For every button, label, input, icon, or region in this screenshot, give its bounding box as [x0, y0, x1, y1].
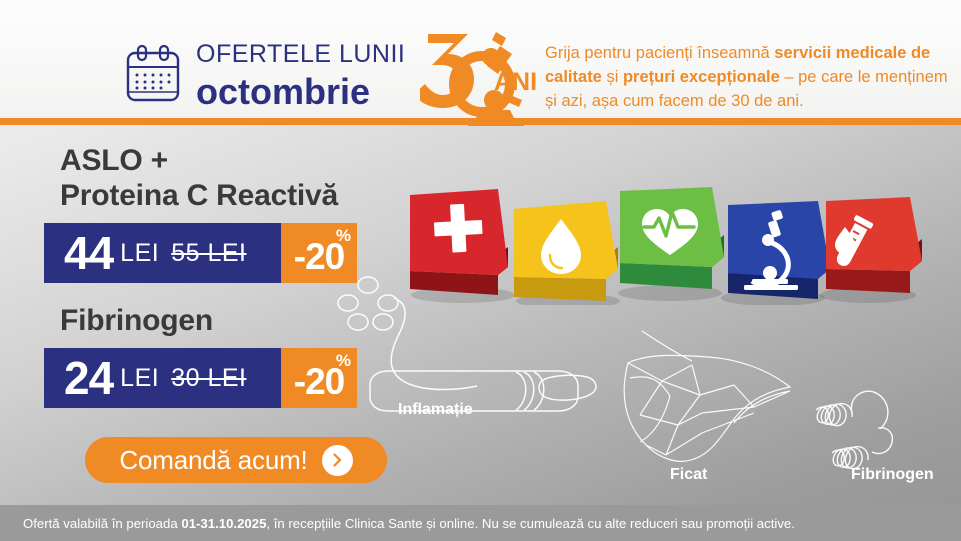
- block-cross: [410, 189, 508, 295]
- discount-badge-2: -20 %: [281, 348, 357, 408]
- tagline-part-3: prețuri excepționale: [623, 68, 780, 86]
- price-2-old: 30 LEI: [171, 364, 246, 393]
- offer-heading: OFERTELE LUNII octombrie: [196, 40, 436, 112]
- liver-wireframe-icon: [624, 331, 790, 461]
- offer-title-2-line1: Fibrinogen: [60, 303, 213, 338]
- discount-badge-1: -20 %: [281, 223, 357, 283]
- label-ficat: Ficat: [670, 466, 707, 484]
- footer-disclaimer: Ofertă valabilă în perioada 01-31.10.202…: [23, 516, 795, 531]
- offer-heading-line1: OFERTELE LUNII: [196, 40, 436, 69]
- block-testtube: [826, 197, 922, 293]
- discount-1-unit: %: [336, 227, 351, 244]
- label-fibrinogen: Fibrinogen: [851, 466, 934, 484]
- price-1-currency: LEI: [120, 239, 159, 268]
- header-tagline: Grija pentru pacienți înseamnă servicii …: [545, 42, 955, 114]
- footer-part-0: Ofertă valabilă în perioada: [23, 516, 181, 531]
- price-box-1-main: 44 LEI 55 LEI: [44, 223, 281, 283]
- block-drop: [514, 201, 618, 301]
- price-box-2: 24 LEI 30 LEI -20 %: [44, 348, 357, 408]
- footer-part-2: , în recepțiile Clinica Sante și online.…: [266, 516, 795, 531]
- offer-title-1-line2: Proteina C Reactivă: [60, 178, 338, 213]
- tagline-part-0: Grija pentru pacienți înseamnă: [545, 44, 774, 62]
- price-1-value: 44: [64, 230, 113, 276]
- anniversary-30-ani-logo: ANI: [420, 22, 540, 126]
- tagline-part-2: și: [602, 68, 623, 86]
- protein-helix-icon: [816, 391, 892, 468]
- offer-title-1-line1: ASLO +: [60, 143, 338, 178]
- chevron-right-icon: [322, 445, 353, 476]
- price-2-value: 24: [64, 355, 113, 401]
- footer-bar: Ofertă valabilă în perioada 01-31.10.202…: [0, 505, 961, 541]
- medical-icon-blocks: [398, 183, 923, 305]
- discount-2-unit: %: [336, 352, 351, 369]
- calendar-icon: [124, 44, 182, 104]
- price-1-old: 55 LEI: [171, 239, 246, 268]
- offer-heading-line2: octombrie: [196, 71, 436, 112]
- price-box-1: 44 LEI 55 LEI -20 %: [44, 223, 357, 283]
- offer-title-1: ASLO + Proteina C Reactivă: [60, 143, 338, 214]
- price-2-currency: LEI: [120, 364, 159, 393]
- order-now-button[interactable]: Comandă acum!: [85, 437, 387, 483]
- footer-part-1: 01-31.10.2025: [181, 516, 266, 531]
- price-box-2-main: 24 LEI 30 LEI: [44, 348, 281, 408]
- order-now-label: Comandă acum!: [119, 445, 307, 476]
- promo-banner: OFERTELE LUNII octombrie ANI Grija pentr…: [0, 0, 961, 541]
- block-microscope: [728, 201, 830, 299]
- logo-ani-text: ANI: [494, 68, 537, 96]
- block-heartbeat: [620, 187, 724, 289]
- offer-title-2: Fibrinogen: [60, 303, 213, 338]
- label-inflamatie: Inflamație: [398, 401, 473, 419]
